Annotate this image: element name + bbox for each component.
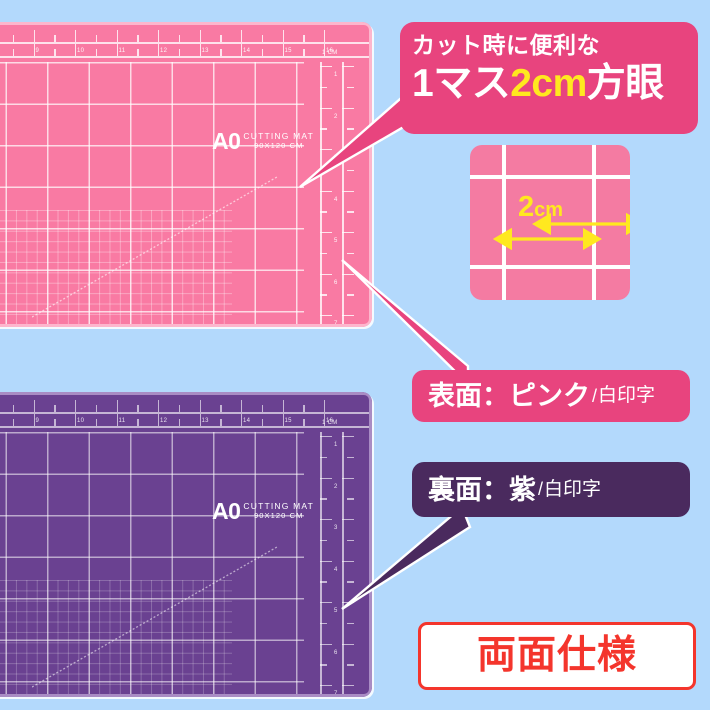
badge-back-main: 裏面：紫 bbox=[428, 475, 536, 505]
badge-back-sub: 白印字 bbox=[544, 479, 601, 501]
banner-line1: カット時に便利な bbox=[412, 30, 698, 60]
mat-border-purple bbox=[0, 392, 372, 697]
badge-front-main: 表面：ピンク bbox=[428, 381, 590, 411]
grid-cell-diagram: 2cm bbox=[470, 145, 630, 300]
badge-back-separator: / bbox=[538, 479, 543, 500]
pointer-back-badge-to-purple-mat bbox=[340, 505, 470, 615]
infographic-stage: 1615141312111098 12345671 CM A0 CUTTING … bbox=[0, 0, 710, 710]
banner-line2-suffix: 方眼 bbox=[587, 62, 664, 105]
diagram-dimension-label: 2cm bbox=[518, 193, 563, 222]
diagram-dimension-number: 2 bbox=[518, 191, 534, 223]
diagram-dimension-arrows bbox=[470, 145, 630, 300]
banner-line2-highlight: 2cm bbox=[510, 62, 587, 105]
diagram-dimension-unit: cm bbox=[534, 199, 563, 221]
banner-grid-callout: カット時に便利な 1マス2cm方眼 bbox=[400, 22, 698, 134]
badge-double-sided: 両面仕様 bbox=[418, 622, 696, 690]
pointer-front-badge-to-pink-mat bbox=[340, 258, 470, 388]
badge-front-separator: / bbox=[592, 386, 597, 407]
banner-line2: 1マス2cm方眼 bbox=[412, 60, 698, 108]
badge-front-sub: 白印字 bbox=[598, 385, 655, 407]
banner-line2-prefix: 1マス bbox=[412, 62, 510, 105]
badge-double-sided-label: 両面仕様 bbox=[477, 635, 637, 677]
cutting-mat-purple: 1615141312111098 12345671 CM A0 CUTTING … bbox=[0, 392, 372, 697]
badge-back-surface: 裏面：紫 / 白印字 bbox=[412, 462, 690, 517]
badge-front-surface: 表面：ピンク / 白印字 bbox=[412, 370, 690, 422]
